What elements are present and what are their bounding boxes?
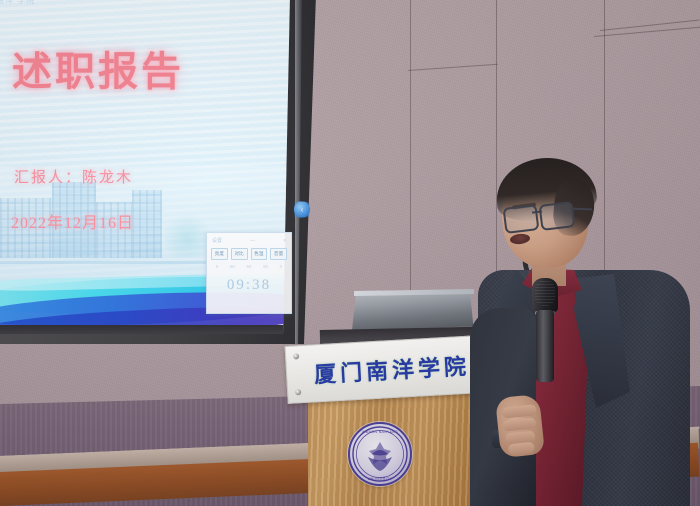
- osd-title: 设置: [212, 237, 222, 244]
- osd-value-row: 0 50 50 50 0: [207, 262, 291, 271]
- handheld-microphone[interactable]: [528, 278, 564, 382]
- osd-value: 50: [247, 264, 252, 269]
- svg-text:UNIVERSITY: UNIVERSITY: [368, 477, 393, 481]
- eyeglass-lens-right: [539, 201, 576, 231]
- photo-windows: [132, 190, 162, 260]
- eyeglasses-icon: [498, 202, 590, 236]
- speaker: [470, 158, 700, 506]
- display-osd-menu[interactable]: 设置 — × 亮度 对比 色温 音量 0 50 50 50 0 09:38: [206, 232, 292, 314]
- microphone-grille: [535, 280, 555, 306]
- osd-value: 50: [230, 264, 235, 269]
- plaque-screw: [295, 389, 301, 395]
- osd-button-row: 亮度 对比 色温 音量: [207, 246, 291, 262]
- osd-value: 0: [216, 264, 218, 269]
- university-emblem: XIAMEN NANYANG UNIVERSITY: [348, 422, 412, 486]
- osd-titlebar: 设置 — ×: [207, 233, 291, 246]
- speaker-hand: [495, 394, 545, 458]
- close-icon[interactable]: ×: [283, 238, 286, 244]
- osd-button-volume[interactable]: 音量: [270, 248, 287, 260]
- osd-minimize-icon[interactable]: —: [250, 238, 255, 244]
- svg-text:XIAMEN NANYANG: XIAMEN NANYANG: [362, 430, 398, 434]
- slide-bottom-edge: [0, 325, 290, 334]
- chevron-left-icon[interactable]: ‹: [294, 201, 310, 218]
- osd-value: 50: [263, 264, 268, 269]
- finger: [508, 442, 535, 456]
- presentation-display[interactable]: 南洋 学院 述职报告 汇报人：陈龙木 2022年12月16日 设置 — × 亮度…: [0, 0, 316, 344]
- photo-building: [132, 190, 162, 260]
- plaque-screw: [293, 353, 299, 359]
- microphone-body: [536, 310, 554, 382]
- slide-corner-mark: 南洋 学院: [0, 0, 35, 6]
- slide-date-line: 2022年12月16日: [11, 209, 134, 233]
- lectern-name-plaque: 厦门南洋学院: [285, 334, 500, 404]
- osd-clock: 09:38: [207, 277, 291, 294]
- finger: [502, 404, 537, 418]
- osd-button-contrast[interactable]: 对比: [231, 248, 248, 260]
- finger: [502, 417, 536, 431]
- slide-presenter-line: 汇报人：陈龙木: [14, 166, 133, 187]
- osd-value: 0: [280, 264, 282, 269]
- eyeglass-lens-left: [503, 204, 540, 234]
- photo-tree: [164, 210, 210, 262]
- osd-button-colortemp[interactable]: 色温: [251, 248, 268, 260]
- microphone-head: [532, 278, 558, 312]
- osd-button-brightness[interactable]: 亮度: [211, 248, 228, 260]
- lectern-plaque-text: 厦门南洋学院: [313, 349, 471, 390]
- presentation-photo: 南洋 学院 述职报告 汇报人：陈龙木 2022年12月16日 设置 — × 亮度…: [0, 0, 700, 506]
- slide-title: 述职报告: [12, 52, 184, 92]
